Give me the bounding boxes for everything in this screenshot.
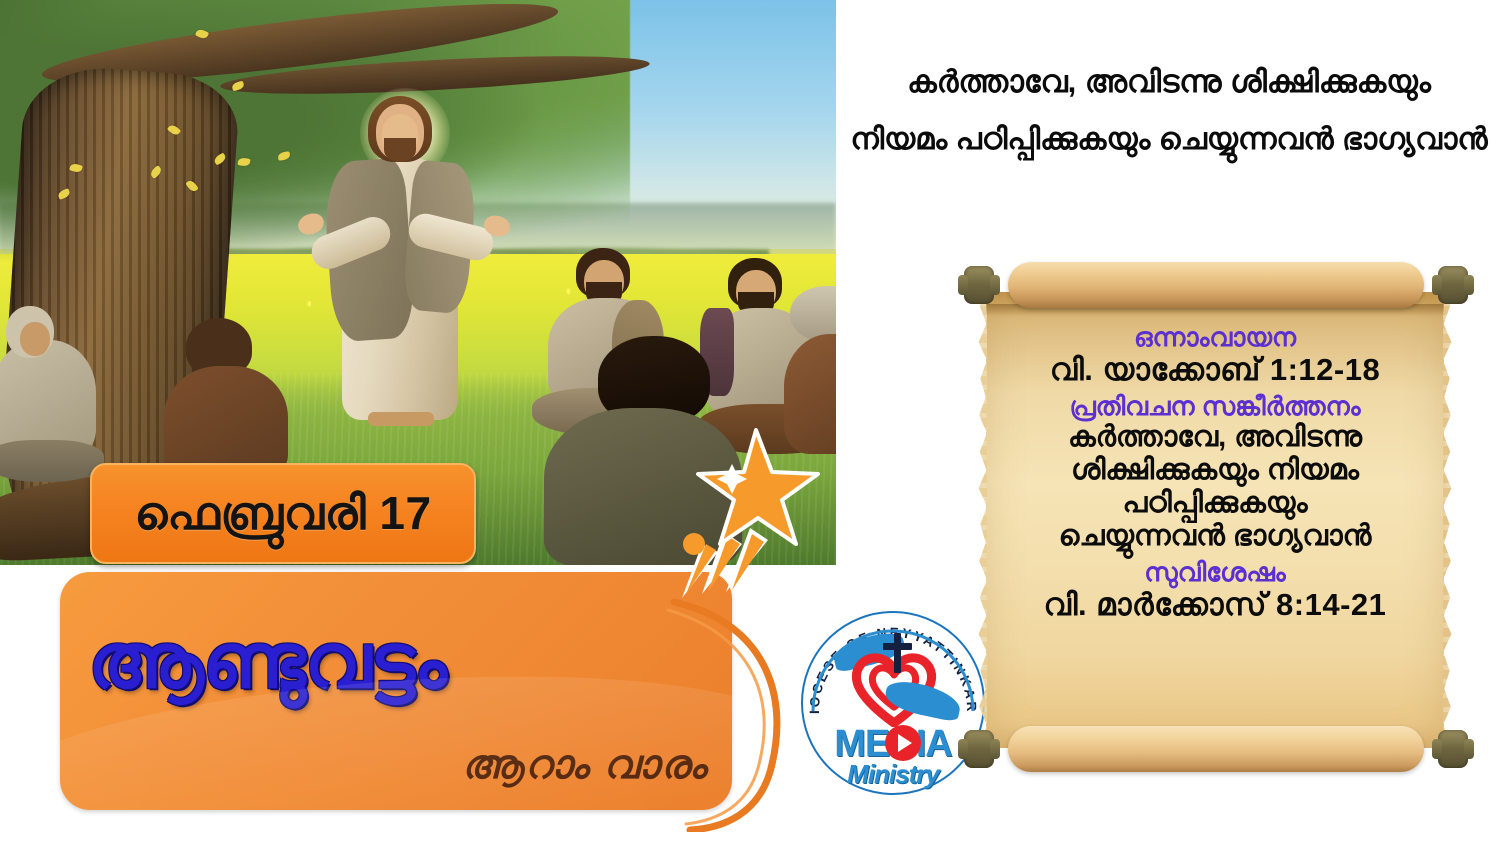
scroll-knob-top-right: [1438, 266, 1468, 304]
play-icon: [885, 725, 921, 761]
reading-reference-first: വി. യാക്കോബ് 1:12-18: [1000, 354, 1430, 385]
header-verse: കർത്താവേ, അവിടന്നു ശിക്ഷിക്കുകയും നിയമം …: [846, 62, 1492, 159]
reading-heading-first: ഒന്നാംവായന: [1000, 324, 1430, 350]
scroll-edge-left: [975, 292, 987, 748]
jesus-beard: [384, 138, 416, 162]
scroll-knob-top-left: [964, 266, 994, 304]
season-banner-group: ആണ്ടുവട്ടം ആറാം വാരം: [60, 572, 760, 828]
scroll-knob-bottom-left: [964, 730, 994, 768]
figure-disciple-left-edge: [0, 300, 106, 480]
date-badge[interactable]: ഫെബ്രുവരി 17: [90, 463, 476, 564]
star-wand-decoration: [672, 426, 832, 601]
verse-line-1: കർത്താവേ, അവിടന്നു ശിക്ഷിക്കുകയും: [846, 62, 1492, 103]
date-badge-label: ഫെബ്രുവരി 17: [134, 486, 431, 542]
figure-jesus: [316, 96, 484, 446]
readings-list: ഒന്നാംവായന വി. യാക്കോബ് 1:12-18 പ്രതിവചന…: [1000, 316, 1430, 626]
season-banner[interactable]: ആണ്ടുവട്ടം ആറാം വാരം: [60, 572, 732, 810]
reading-heading-gospel: സുവിശേഷം: [1000, 559, 1430, 585]
cross-icon-horizontal: [883, 643, 912, 650]
reading-heading-psalm: പ്രതിവചന സങ്കീർത്തനം: [1000, 393, 1430, 419]
scroll-edge-right: [1443, 292, 1455, 748]
season-title: ആണ്ടുവട്ടം: [88, 624, 446, 700]
poster-canvas: ഫെബ്രുവരി 17 ആണ്ടുവട്ടം ആറാം വാരം കർത്താ…: [0, 0, 1500, 844]
psalm-line-3: പഠിപ്പിക്കുകയും: [1000, 489, 1430, 518]
cross-icon-vertical: [894, 633, 901, 673]
jesus-feet: [368, 412, 434, 426]
psalm-line-2: ശിക്ഷിക്കുകയും നിയമം: [1000, 456, 1430, 485]
disciple-face: [20, 322, 50, 356]
scroll-knob-bottom-right: [1438, 730, 1468, 768]
verse-line-2: നിയമം പഠിപ്പിക്കുകയും ചെയ്യുന്നവൻ ഭാഗ്യവ…: [846, 119, 1492, 159]
readings-scroll: ഒന്നാംവായന വി. യാക്കോബ് 1:12-18 പ്രതിവചന…: [962, 244, 1470, 794]
psalm-line-4: ചെയ്യുന്നവൻ ഭാഗ്യവാൻ: [1000, 522, 1430, 551]
reading-reference-gospel: വി. മാർക്കോസ് 8:14-21: [1000, 589, 1430, 620]
diocese-media-ministry-logo[interactable]: DIOCESE OF NEYYATTINKARA MEDIA Ministry: [797, 607, 989, 799]
season-week-label: ആറാം വാരം: [462, 743, 708, 788]
scroll-rod-bottom: [1008, 726, 1424, 772]
logo-ministry-text: Ministry: [797, 759, 989, 790]
disciple-legs: [0, 440, 104, 482]
scroll-rod-top: [1008, 262, 1424, 308]
psalm-line-1: കർത്താവേ, അവിടന്നു: [1000, 423, 1430, 452]
